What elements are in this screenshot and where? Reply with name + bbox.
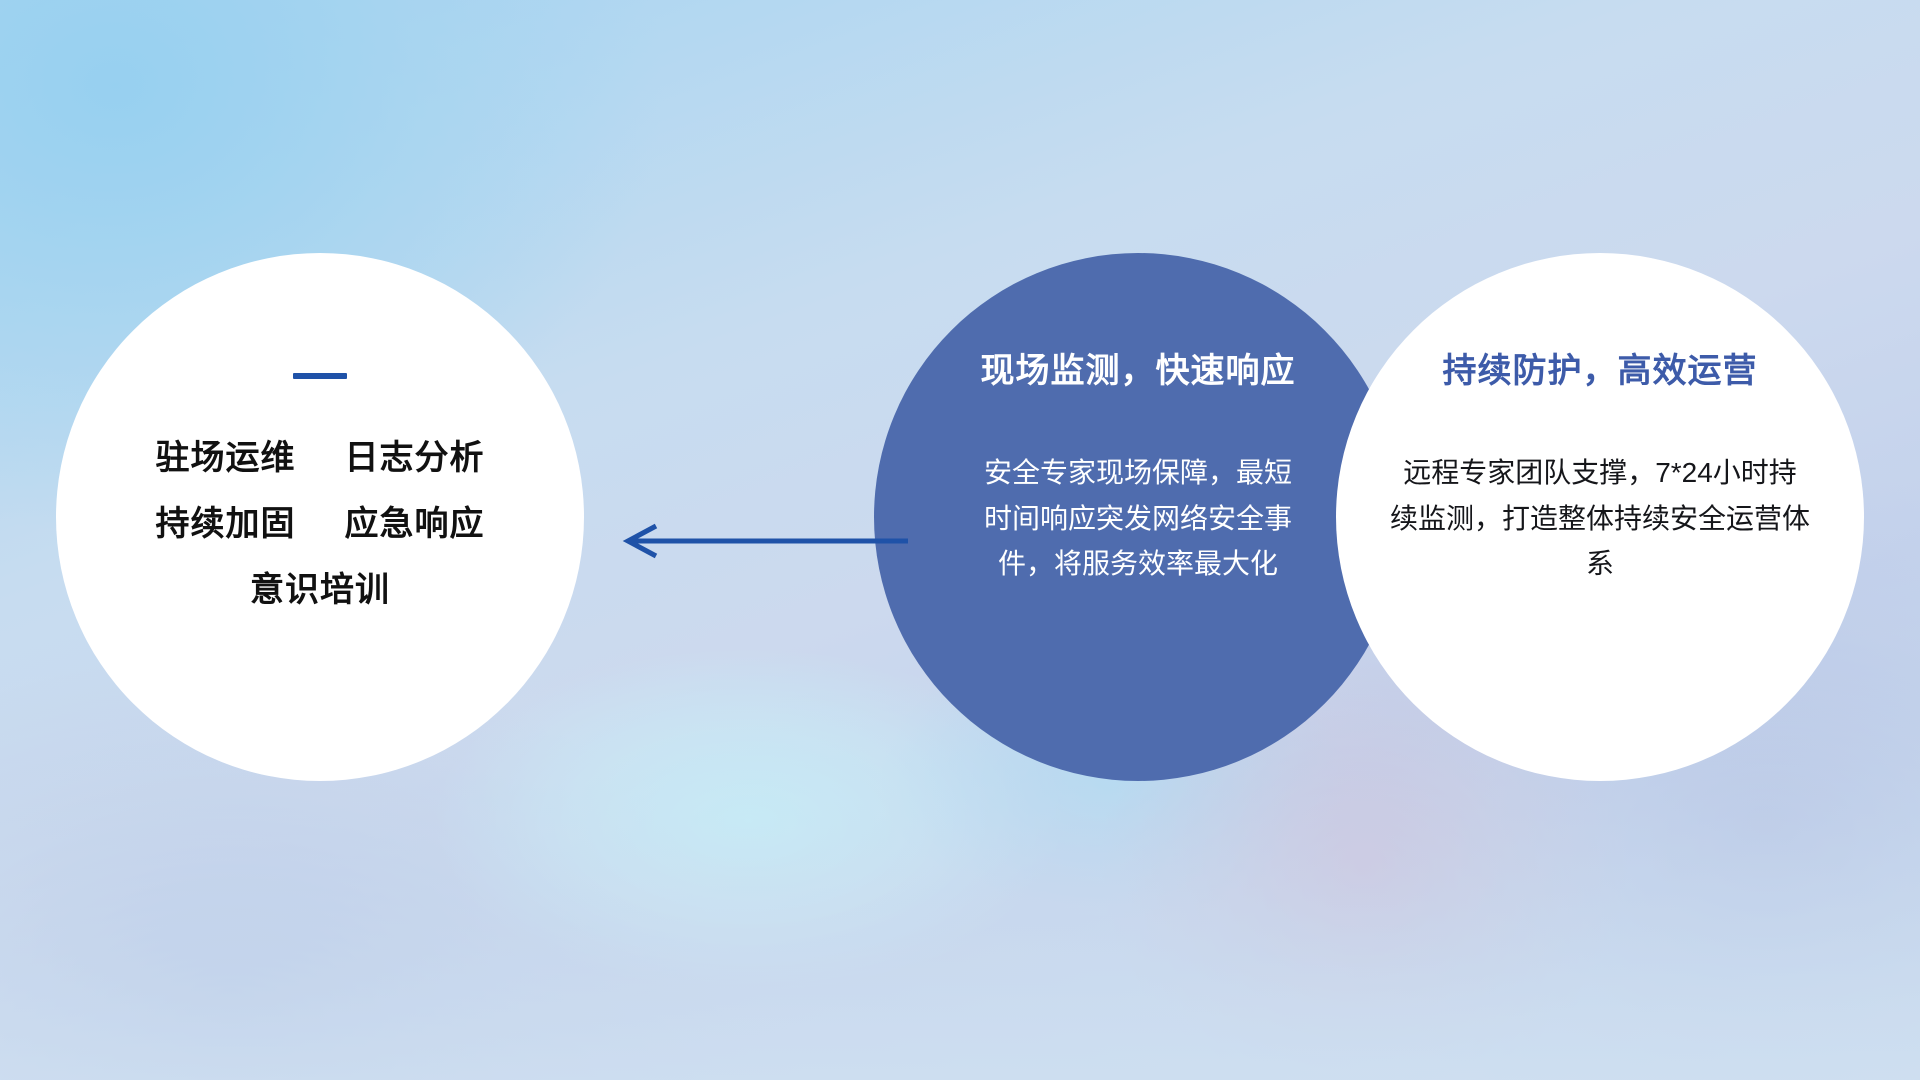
continuous-protection-circle-content: 持续防护，高效运营 远程专家团队支撑，7*24小时持续监测，打造整体持续安全运营… [1336,253,1864,781]
capability-item-5: 意识培训 [250,571,390,609]
capability-item-1: 驻场运维 [156,439,296,477]
flow-arrow-left-icon [612,520,912,562]
capability-item-4: 应急响应 [344,505,484,543]
capabilities-row-2: 持续加固 应急响应 [156,507,485,541]
divider-rule [293,373,347,379]
capabilities-row-3: 意识培训 [250,573,390,607]
capability-item-3: 持续加固 [156,505,296,543]
onsite-monitoring-title: 现场监测，快速响应 [981,353,1296,390]
onsite-monitoring-body: 安全专家现场保障，最短时间响应突发网络安全事件，将服务效率最大化 [973,450,1303,586]
capabilities-row-1: 驻场运维 日志分析 [156,441,485,475]
slide-canvas: 驻场运维 日志分析 持续加固 应急响应 意识培训 现场监测，快速响应 安全专家现… [0,0,1920,1080]
capabilities-circle-content: 驻场运维 日志分析 持续加固 应急响应 意识培训 [56,253,584,781]
capability-item-2: 日志分析 [344,439,484,477]
onsite-monitoring-circle-content: 现场监测，快速响应 安全专家现场保障，最短时间响应突发网络安全事件，将服务效率最… [874,253,1402,781]
continuous-protection-body: 远程专家团队支撑，7*24小时持续监测，打造整体持续安全运营体系 [1390,450,1810,586]
capabilities-list: 驻场运维 日志分析 持续加固 应急响应 意识培训 [156,441,485,607]
continuous-protection-title: 持续防护，高效运营 [1443,353,1758,390]
